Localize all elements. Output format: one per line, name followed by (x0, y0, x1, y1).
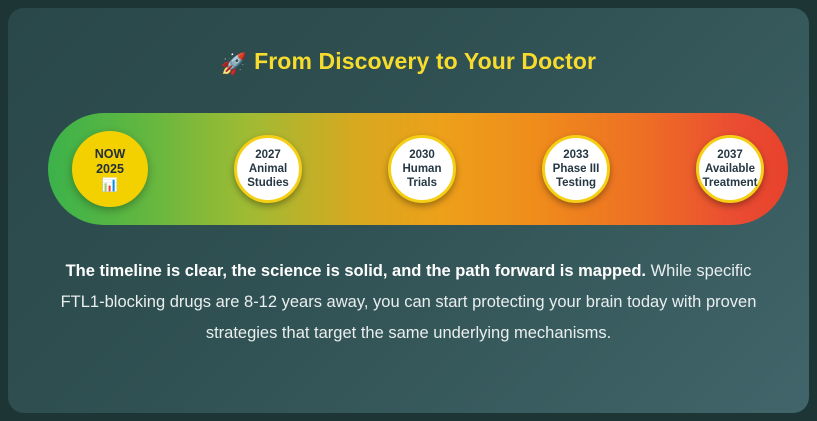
milestone-line-3: Testing (556, 176, 596, 190)
milestone-2037-available-treatment[interactable]: 2037 Available Treatment (696, 135, 764, 203)
milestone-line-3: Trials (407, 176, 437, 190)
bar-chart-icon: 📊 (102, 178, 118, 192)
milestone-line-3: Treatment (703, 176, 758, 190)
rocket-icon: 🚀 (221, 53, 247, 76)
milestone-line-1: 2030 (409, 148, 435, 162)
milestone-line-2: Human (403, 162, 442, 176)
milestone-line-1: 2027 (255, 148, 281, 162)
milestone-line-2: Phase III (553, 162, 600, 176)
page-title: 🚀From Discovery to Your Doctor (8, 48, 809, 77)
milestone-line-1: 2033 (563, 148, 589, 162)
milestone-2030-human-trials[interactable]: 2030 Human Trials (388, 135, 456, 203)
milestone-line-2: Available (705, 162, 755, 176)
summary-paragraph: The timeline is clear, the science is so… (42, 256, 775, 349)
summary-lead-text: The timeline is clear, the science is so… (66, 262, 646, 280)
milestone-now-2025[interactable]: NOW 2025 📊 (72, 131, 148, 207)
milestone-line-1: NOW (95, 147, 126, 162)
milestone-line-2: 2025 (96, 162, 124, 177)
milestone-line-1: 2037 (717, 148, 743, 162)
timeline-card: 🚀From Discovery to Your Doctor NOW 2025 … (8, 8, 809, 413)
milestone-2027-animal-studies[interactable]: 2027 Animal Studies (234, 135, 302, 203)
page-title-text: From Discovery to Your Doctor (254, 48, 596, 74)
milestone-line-3: Studies (247, 176, 289, 190)
milestone-row: NOW 2025 📊 2027 Animal Studies 2030 Huma… (48, 113, 788, 225)
milestone-2033-phase-iii-testing[interactable]: 2033 Phase III Testing (542, 135, 610, 203)
milestone-line-2: Animal (249, 162, 287, 176)
